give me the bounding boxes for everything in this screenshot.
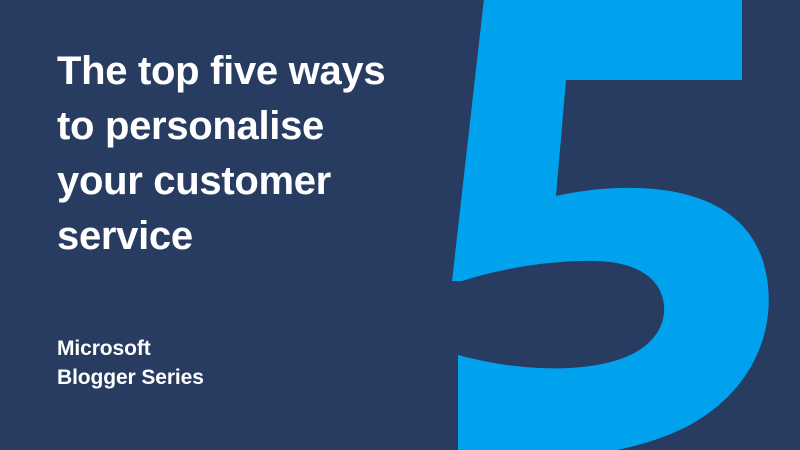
subtitle-line-series: Blogger Series xyxy=(57,363,397,392)
numeral-five-glyph xyxy=(452,0,769,450)
subtitle-block: Microsoft Blogger Series xyxy=(57,334,397,392)
page-title: The top five ways to personalise your cu… xyxy=(57,44,432,264)
text-block: The top five ways to personalise your cu… xyxy=(57,0,437,450)
slide-canvas: The top five ways to personalise your cu… xyxy=(0,0,800,450)
subtitle-line-brand: Microsoft xyxy=(57,334,397,363)
